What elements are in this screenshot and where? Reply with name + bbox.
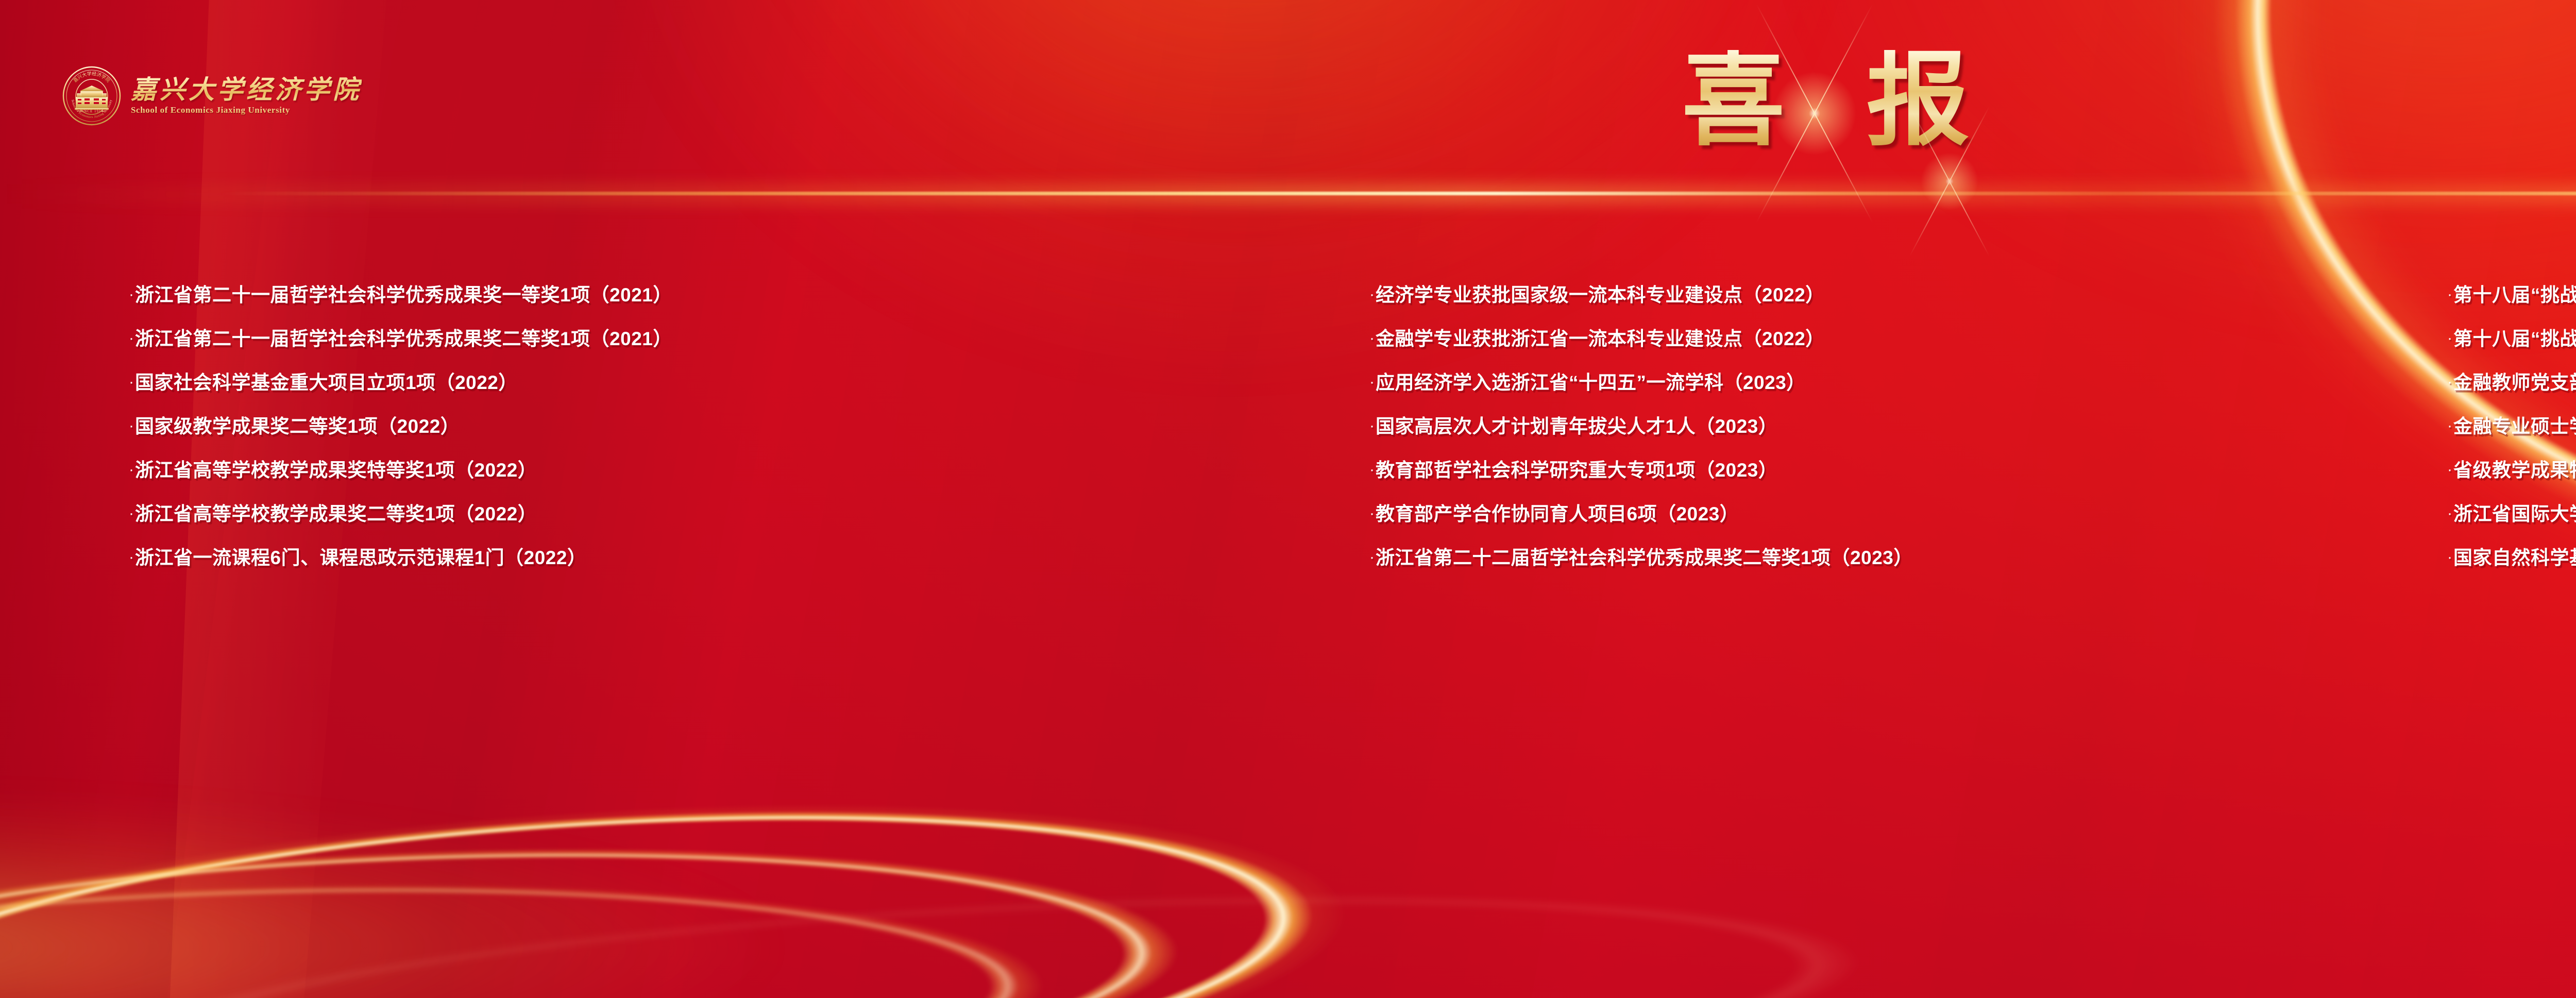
list-item: ·第十八届“挑战杯”全国大学生课外学术科技作品竞赛三等奖（2023） xyxy=(2447,328,2576,361)
achievements-columns: ·浙江省第二十一届哲学社会科学优秀成果奖一等奖1项（2021） ·浙江省第二十一… xyxy=(0,284,2576,779)
page-title: 喜 报 xyxy=(1654,50,1997,153)
gold-ribbon-group xyxy=(0,771,1855,998)
list-item: ·国家社会科学基金重大项目立项1项（2022） xyxy=(129,372,1221,404)
bullet-icon: · xyxy=(129,372,134,393)
achievements-column-1: ·浙江省第二十一届哲学社会科学优秀成果奖一等奖1项（2021） ·浙江省第二十一… xyxy=(0,284,1221,779)
bullet-icon: · xyxy=(2447,416,2452,436)
bullet-icon: · xyxy=(2447,328,2452,349)
school-seal-icon: 嘉兴大学经济学院 School of Economics Jiaxing Uni… xyxy=(62,66,122,126)
achievement-text: 浙江省一流课程6门、课程思政示范课程1门（2022） xyxy=(135,547,586,568)
list-item: ·金融学专业获批浙江省一流本科专业建设点（2022） xyxy=(1369,328,2344,361)
achievement-text: 应用经济学入选浙江省“十四五”一流学科（2023） xyxy=(1376,372,1806,393)
achievements-column-2: ·经济学专业获批国家级一流本科专业建设点（2022） ·金融学专业获批浙江省一流… xyxy=(1221,284,2344,779)
list-item: ·浙江省国际大学生创新大赛金奖（2024） xyxy=(2447,503,2576,536)
achievement-text: 金融学专业获批浙江省一流本科专业建设点（2022） xyxy=(1376,328,1825,349)
list-item: ·浙江省第二十一届哲学社会科学优秀成果奖二等奖1项（2021） xyxy=(129,328,1221,361)
bullet-icon: · xyxy=(129,284,134,305)
list-item: ·经济学专业获批国家级一流本科专业建设点（2022） xyxy=(1369,284,2344,317)
achievement-text: 浙江省国际大学生创新大赛金奖（2024） xyxy=(2453,503,2576,525)
list-item: ·浙江省第二十二届哲学社会科学优秀成果奖二等奖1项（2023） xyxy=(1369,547,2344,580)
achievement-text: 国家级教学成果奖二等奖1项（2022） xyxy=(135,416,460,437)
list-item: ·国家高层次人才计划青年拔尖人才1人（2023） xyxy=(1369,416,2344,448)
achievement-text: 国家自然科学基金面上项目1项(2024) xyxy=(2453,547,2576,568)
banner-title-area: 喜 报 xyxy=(1465,11,2187,192)
achievements-column-3: ·第十八届“挑战杯”全国大学生课外学术科技作品竞赛二等奖（2023） ·第十八届… xyxy=(2344,284,2576,779)
celebration-banner: 嘉兴大学经济学院 School of Economics Jiaxing Uni… xyxy=(0,0,2576,998)
list-item: ·教育部哲学社会科学研究重大专项1项（2023） xyxy=(1369,460,2344,492)
bullet-icon: · xyxy=(2447,284,2452,305)
school-name-cn: 嘉兴大学经济学院 xyxy=(131,76,362,103)
achievement-text: 教育部哲学社会科学研究重大专项1项（2023） xyxy=(1376,460,1777,481)
bullet-icon: · xyxy=(129,328,134,349)
school-name-en: School of Economics Jiaxing University xyxy=(131,105,362,115)
bullet-icon: · xyxy=(129,416,134,436)
list-item: ·教育部产学合作协同育人项目6项（2023） xyxy=(1369,503,2344,536)
list-item: ·第十八届“挑战杯”全国大学生课外学术科技作品竞赛二等奖（2023） xyxy=(2447,284,2576,317)
bullet-icon: · xyxy=(129,547,134,568)
achievement-text: 第十八届“挑战杯”全国大学生课外学术科技作品竞赛二等奖（2023） xyxy=(2453,284,2576,306)
bullet-icon: · xyxy=(1369,503,1375,524)
bullet-icon: · xyxy=(2447,503,2452,524)
school-logo: 嘉兴大学经济学院 School of Economics Jiaxing Uni… xyxy=(62,66,362,126)
achievement-text: 浙江省第二十一届哲学社会科学优秀成果奖一等奖1项（2021） xyxy=(135,284,672,306)
achievement-text: 第十八届“挑战杯”全国大学生课外学术科技作品竞赛三等奖（2023） xyxy=(2453,328,2576,349)
list-item: ·金融专业硕士学位授权点获批（2024） xyxy=(2447,416,2576,448)
svg-text:SINCE 1914: SINCE 1914 xyxy=(80,109,104,113)
bullet-icon: · xyxy=(1369,284,1375,305)
bullet-icon: · xyxy=(2447,547,2452,568)
bullet-icon: · xyxy=(1369,547,1375,568)
list-item: ·浙江省高等学校教学成果奖二等奖1项（2022） xyxy=(129,503,1221,536)
list-item: ·金融教师党支部获评省级样板支部培育创建单位（2024） xyxy=(2447,372,2576,404)
achievement-text: 浙江省第二十二届哲学社会科学优秀成果奖二等奖1项（2023） xyxy=(1376,547,1913,568)
list-item: ·浙江省第二十一届哲学社会科学优秀成果奖一等奖1项（2021） xyxy=(129,284,1221,317)
achievement-text: 浙江省高等学校教学成果奖特等奖1项（2022） xyxy=(135,460,537,481)
list-item: ·省级教学成果特等奖1项（2024） xyxy=(2447,460,2576,492)
achievement-text: 国家高层次人才计划青年拔尖人才1人（2023） xyxy=(1376,416,1777,437)
gold-horizon-line xyxy=(0,192,2576,195)
list-item: ·国家级教学成果奖二等奖1项（2022） xyxy=(129,416,1221,448)
list-item: ·浙江省高等学校教学成果奖特等奖1项（2022） xyxy=(129,460,1221,492)
svg-text:嘉兴大学经济学院: 嘉兴大学经济学院 xyxy=(72,71,111,83)
bullet-icon: · xyxy=(1369,328,1375,349)
achievement-text: 金融教师党支部获评省级样板支部培育创建单位（2024） xyxy=(2453,372,2576,393)
achievement-text: 国家社会科学基金重大项目立项1项（2022） xyxy=(135,372,518,393)
bullet-icon: · xyxy=(2447,372,2452,393)
achievement-text: 教育部产学合作协同育人项目6项（2023） xyxy=(1376,503,1739,525)
bullet-icon: · xyxy=(1369,460,1375,480)
bullet-icon: · xyxy=(2447,460,2452,480)
bullet-icon: · xyxy=(1369,416,1375,436)
school-wordmark: 嘉兴大学经济学院 School of Economics Jiaxing Uni… xyxy=(131,76,362,115)
bullet-icon: · xyxy=(129,460,134,480)
bullet-icon: · xyxy=(129,503,134,524)
achievement-text: 浙江省第二十一届哲学社会科学优秀成果奖二等奖1项（2021） xyxy=(135,328,672,349)
achievement-text: 经济学专业获批国家级一流本科专业建设点（2022） xyxy=(1376,284,1825,306)
list-item: ·应用经济学入选浙江省“十四五”一流学科（2023） xyxy=(1369,372,2344,404)
achievement-text: 金融专业硕士学位授权点获批（2024） xyxy=(2453,416,2576,437)
list-item: ·浙江省一流课程6门、课程思政示范课程1门（2022） xyxy=(129,547,1221,580)
bullet-icon: · xyxy=(1369,372,1375,393)
achievement-text: 浙江省高等学校教学成果奖二等奖1项（2022） xyxy=(135,503,537,525)
list-item: ·国家自然科学基金面上项目1项(2024) xyxy=(2447,547,2576,580)
achievement-text: 省级教学成果特等奖1项（2024） xyxy=(2453,460,2576,481)
